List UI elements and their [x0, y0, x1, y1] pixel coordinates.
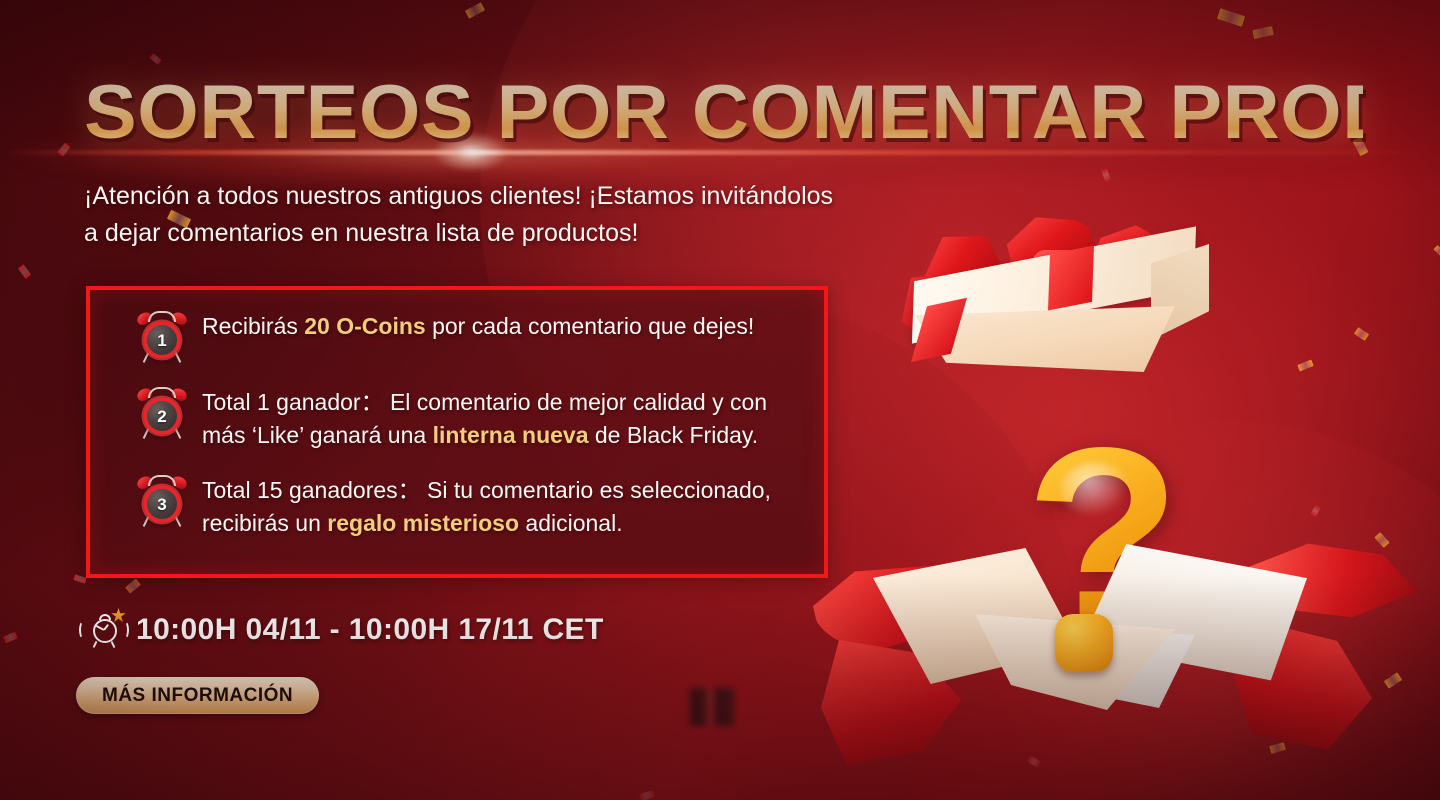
rules-list: 1Recibirás 20 O-Coins por cada comentari… — [136, 310, 810, 540]
page-title: SORTEOS POR COMENTAR PRODUCTOS — [84, 74, 1363, 152]
confetti-piece — [1384, 672, 1402, 688]
rule-row: 2Total 1 ganador： El comentario de mejor… — [136, 386, 810, 452]
rule-plain-text: de Black Friday. — [589, 422, 759, 448]
rule-plain-text: adicional. — [519, 510, 623, 536]
confetti-piece — [1217, 8, 1245, 26]
confetti-piece — [125, 578, 141, 593]
rule-plain-text: por cada comentario que dejes! — [426, 313, 755, 339]
confetti-piece — [73, 574, 86, 583]
alarm-clock-icon: 2 — [136, 388, 188, 440]
subtitle-line-1: ¡Atención a todos nuestros antiguos clie… — [84, 178, 984, 215]
rule-highlight: regalo misterioso — [327, 510, 519, 536]
promo-period: 10:00H 04/11 - 10:00H 17/11 CET — [80, 610, 604, 650]
confetti-piece — [149, 53, 161, 65]
confetti-piece — [1374, 532, 1389, 548]
confetti-piece — [1252, 26, 1273, 39]
rule-number: 2 — [157, 408, 166, 425]
confetti-piece — [465, 2, 485, 18]
background-gift-silhouette — [690, 688, 734, 726]
rule-highlight: 20 O-Coins — [304, 313, 425, 339]
rule-number: 1 — [157, 332, 166, 349]
rule-row: 3Total 15 ganadores： Si tu comentario es… — [136, 474, 810, 540]
alarm-clock-icon: 1 — [136, 312, 188, 364]
rule-text: Total 1 ganador： El comentario de mejor … — [202, 386, 810, 452]
rules-box: 1Recibirás 20 O-Coins por cada comentari… — [86, 286, 828, 578]
question-mark-gloss — [1061, 462, 1131, 518]
rule-highlight: linterna nueva — [433, 422, 589, 448]
rule-plain-text: Recibirás — [202, 313, 304, 339]
alarm-clock-ringing-icon — [80, 610, 128, 650]
rule-text: Recibirás 20 O-Coins por cada comentario… — [202, 310, 754, 343]
confetti-piece — [1433, 245, 1440, 257]
question-mark-dot — [1055, 614, 1113, 672]
confetti-piece — [1027, 755, 1041, 767]
more-info-button[interactable]: MÁS INFORMACIÓN — [76, 677, 319, 714]
confetti-piece — [639, 790, 654, 800]
promo-banner: ? SORTEOS POR COMENTAR PRODUCTOS ¡Atenci… — [0, 0, 1440, 800]
confetti-piece — [1269, 742, 1286, 754]
confetti-piece — [3, 632, 18, 644]
rule-text: Total 15 ganadores： Si tu comentario es … — [202, 474, 810, 540]
subtitle: ¡Atención a todos nuestros antiguos clie… — [84, 178, 984, 252]
rule-row: 1Recibirás 20 O-Coins por cada comentari… — [136, 310, 810, 364]
alarm-clock-icon: 3 — [136, 476, 188, 528]
rule-number: 3 — [157, 496, 166, 513]
gift-box-illustration: ? — [855, 210, 1375, 730]
subtitle-line-2: a dejar comentarios en nuestra lista de … — [84, 215, 984, 252]
promo-period-text: 10:00H 04/11 - 10:00H 17/11 CET — [136, 613, 604, 647]
title-container: SORTEOS POR COMENTAR PRODUCTOS — [84, 74, 1314, 152]
confetti-piece — [18, 264, 31, 279]
gift-lid-stripe-right — [1048, 246, 1094, 311]
